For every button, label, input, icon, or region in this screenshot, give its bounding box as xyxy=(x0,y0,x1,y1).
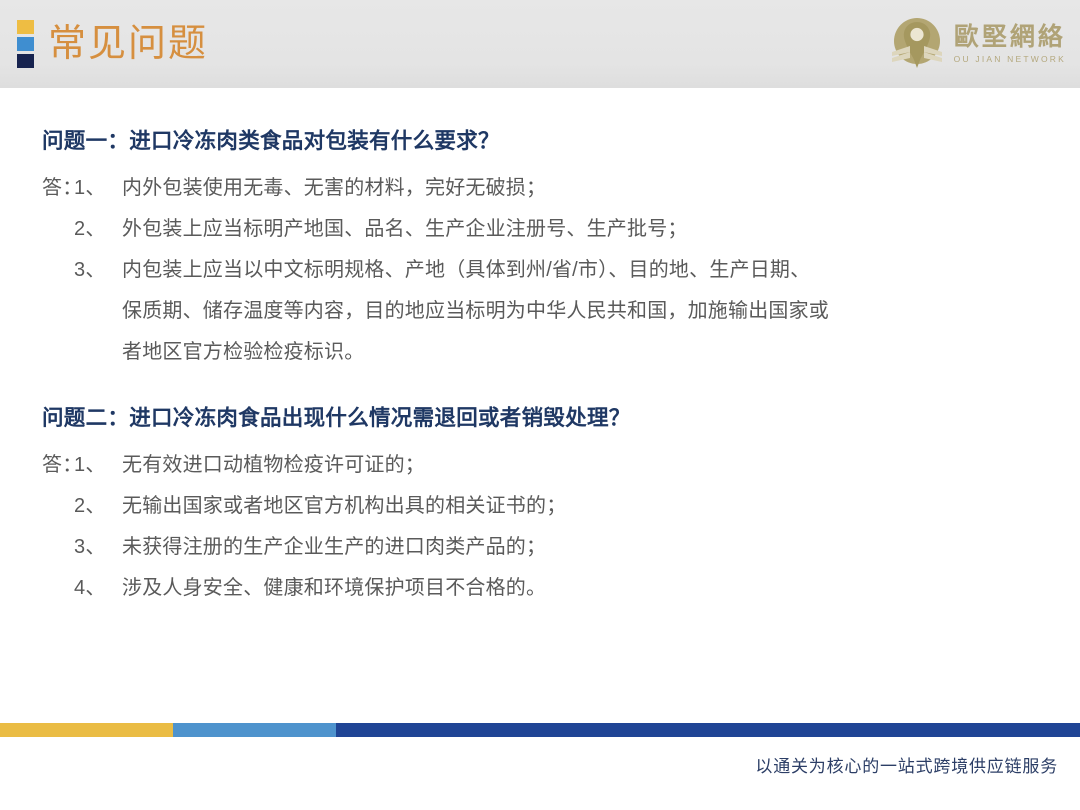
logo-wordmark: 歐堅網絡 OU JIAN NETWORK xyxy=(954,24,1066,67)
answer-text: 无输出国家或者地区官方机构出具的相关证书的； xyxy=(122,486,1038,527)
footer-segment-gold xyxy=(0,723,173,737)
answer-line: 涉及人身安全、健康和环境保护项目不合格的。 xyxy=(122,568,1038,609)
answer-text: 未获得注册的生产企业生产的进口肉类产品的； xyxy=(122,527,1038,568)
answer-line: 者地区官方检验检疫标识。 xyxy=(122,332,1038,373)
header-swatch-group xyxy=(17,20,34,68)
answer-line: 外包装上应当标明产地国、品名、生产企业注册号、生产批号； xyxy=(122,209,1038,250)
answer-text: 内外包装使用无毒、无害的材料，完好无破损； xyxy=(122,168,1038,209)
answer-item: 2、 无输出国家或者地区官方机构出具的相关证书的； xyxy=(42,486,1038,527)
answer-marker: 1、 xyxy=(74,168,122,209)
footer-slogan: 以通关为核心的一站式跨境供应链服务 xyxy=(755,755,1058,779)
slide: 常见问题 歐堅網絡 OU JIAN NETWORK 问题一：进口冷冻肉类食品对包… xyxy=(0,0,1080,810)
answer-item: 答： 1、 内外包装使用无毒、无害的材料，完好无破损； xyxy=(42,168,1038,209)
answer-line: 未获得注册的生产企业生产的进口肉类产品的； xyxy=(122,527,1038,568)
swatch-blue-icon xyxy=(17,37,34,51)
logo-name-en: OU JIAN NETWORK xyxy=(954,53,1066,65)
answer-item: 答： 1、 无有效进口动植物检疫许可证的； xyxy=(42,445,1038,486)
logo-name-cn: 歐堅網絡 xyxy=(954,24,1066,52)
answer-marker: 4、 xyxy=(74,568,122,609)
answer-item: 4、 涉及人身安全、健康和环境保护项目不合格的。 xyxy=(42,568,1038,609)
faq-content: 问题一：进口冷冻肉类食品对包装有什么要求？ 答： 1、 内外包装使用无毒、无害的… xyxy=(42,126,1038,609)
footer-segment-navy xyxy=(336,723,1080,737)
answer-prefix: 答： xyxy=(42,168,74,209)
brand-logo: 歐堅網絡 OU JIAN NETWORK xyxy=(888,14,1066,76)
page-title: 常见问题 xyxy=(48,20,208,68)
answer-item: 2、 外包装上应当标明产地国、品名、生产企业注册号、生产批号； xyxy=(42,209,1038,250)
answer-line: 无输出国家或者地区官方机构出具的相关证书的； xyxy=(122,486,1038,527)
answer-item: 3、 未获得注册的生产企业生产的进口肉类产品的； xyxy=(42,527,1038,568)
answer-line: 内外包装使用无毒、无害的材料，完好无破损； xyxy=(122,168,1038,209)
answer-line: 无有效进口动植物检疫许可证的； xyxy=(122,445,1038,486)
answer-text: 内包装上应当以中文标明规格、产地（具体到州/省/市）、目的地、生产日期、 保质期… xyxy=(122,250,1038,373)
answer-item: 3、 内包装上应当以中文标明规格、产地（具体到州/省/市）、目的地、生产日期、 … xyxy=(42,250,1038,373)
question-heading: 问题一：进口冷冻肉类食品对包装有什么要求？ xyxy=(42,126,1038,156)
qa-block: 问题二：进口冷冻肉食品出现什么情况需退回或者销毁处理？ 答： 1、 无有效进口动… xyxy=(42,403,1038,609)
answer-line: 保质期、储存温度等内容，目的地应当标明为中华人民共和国，加施输出国家或 xyxy=(122,291,1038,332)
swatch-gold-icon xyxy=(17,20,34,34)
answer-marker: 3、 xyxy=(74,527,122,568)
logo-pin-circle-icon xyxy=(888,16,946,74)
answer-text: 外包装上应当标明产地国、品名、生产企业注册号、生产批号； xyxy=(122,209,1038,250)
footer-color-bar xyxy=(0,723,1080,737)
answer-marker: 2、 xyxy=(74,486,122,527)
answer-text: 无有效进口动植物检疫许可证的； xyxy=(122,445,1038,486)
answer-list: 答： 1、 内外包装使用无毒、无害的材料，完好无破损； 2、 外包装上应当标明产… xyxy=(42,168,1038,373)
answer-line: 内包装上应当以中文标明规格、产地（具体到州/省/市）、目的地、生产日期、 xyxy=(122,250,1038,291)
answer-marker: 2、 xyxy=(74,209,122,250)
qa-block: 问题一：进口冷冻肉类食品对包装有什么要求？ 答： 1、 内外包装使用无毒、无害的… xyxy=(42,126,1038,373)
answer-marker: 1、 xyxy=(74,445,122,486)
answer-marker: 3、 xyxy=(74,250,122,291)
swatch-navy-icon xyxy=(17,54,34,68)
answer-text: 涉及人身安全、健康和环境保护项目不合格的。 xyxy=(122,568,1038,609)
answer-prefix: 答： xyxy=(42,445,74,486)
answer-list: 答： 1、 无有效进口动植物检疫许可证的； 2、 无输出国家或者地区官方机构出具… xyxy=(42,445,1038,609)
footer-segment-blue xyxy=(173,723,336,737)
question-heading: 问题二：进口冷冻肉食品出现什么情况需退回或者销毁处理？ xyxy=(42,403,1038,433)
